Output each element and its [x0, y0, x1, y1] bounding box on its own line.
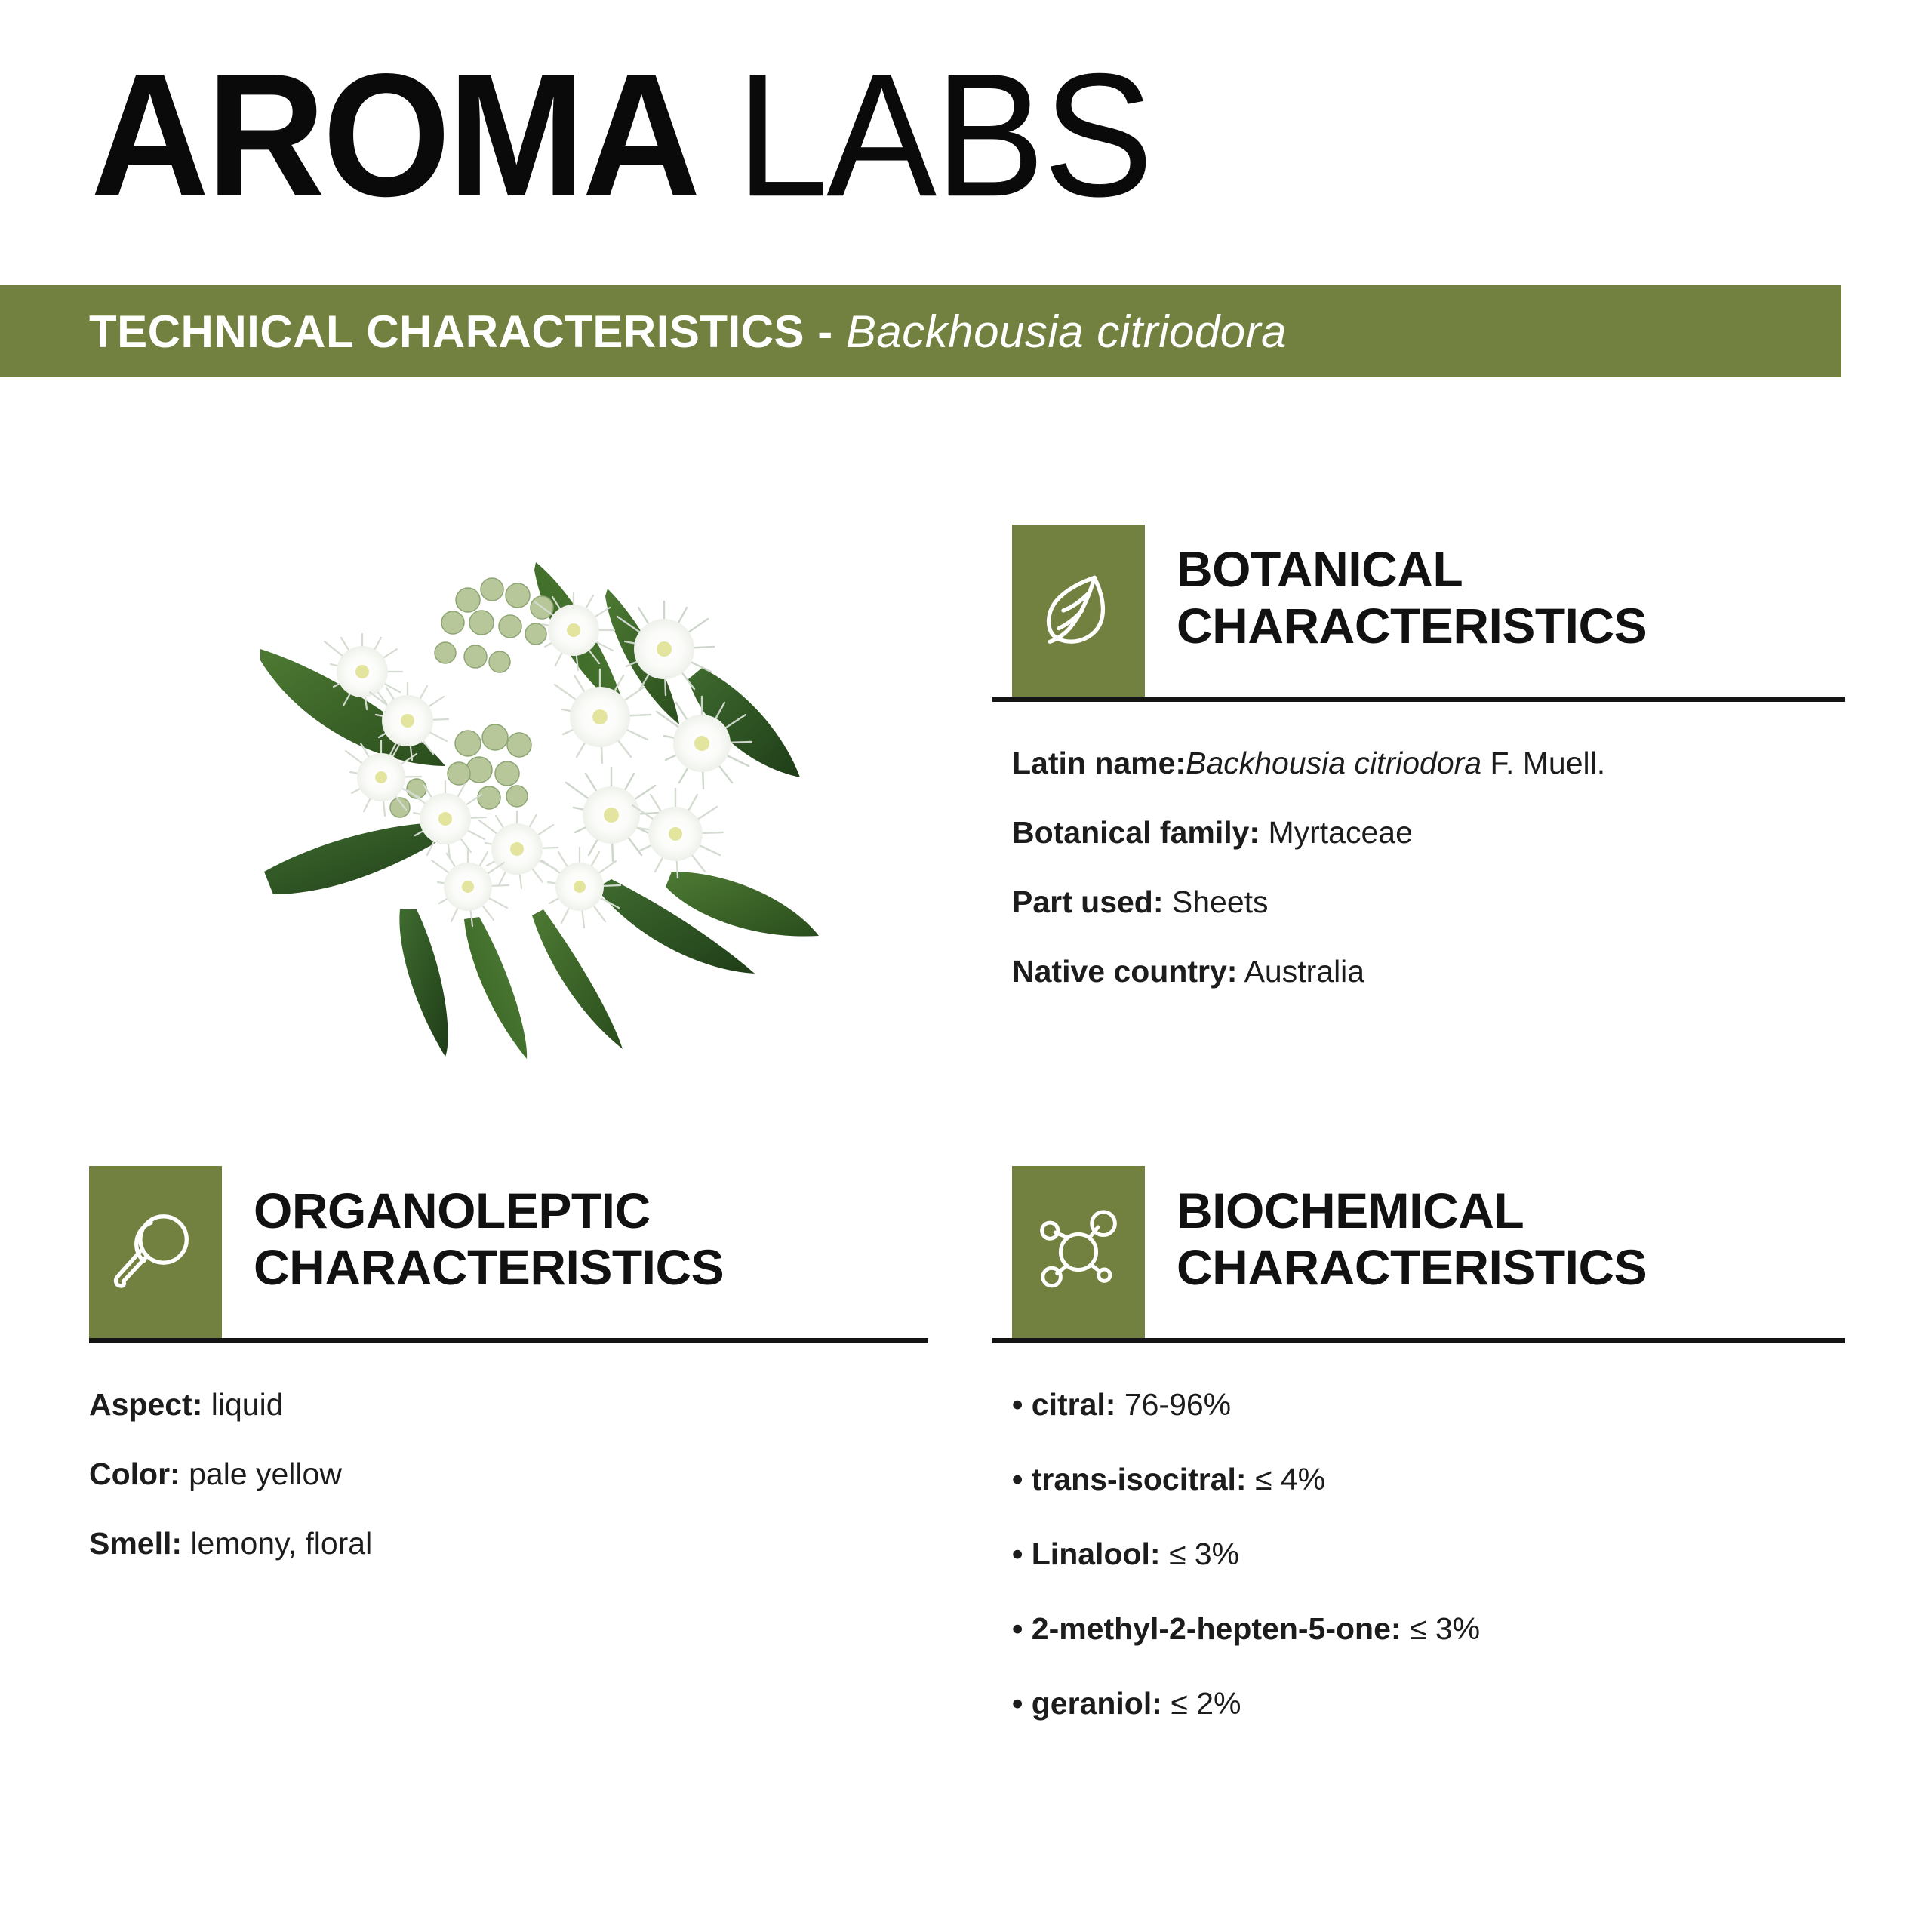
compound-value: ≤ 3%: [1161, 1537, 1240, 1571]
detail-label: Botanical family:: [1012, 815, 1260, 850]
detail-value: lemony, floral: [182, 1526, 372, 1561]
bullet-marker: •: [1012, 1686, 1023, 1721]
compound-value: 76-96%: [1115, 1387, 1231, 1422]
bullet-row-trans-isocitral: • trans-isocitral: ≤ 4%: [1012, 1459, 1865, 1500]
section-header: ORGANOLEPTIC CHARACTERISTICS: [89, 1166, 928, 1338]
compound-label: Linalool:: [1032, 1537, 1161, 1571]
bullet-marker: •: [1012, 1537, 1023, 1571]
detail-row-botanical-family: Botanical family: Myrtaceae: [1012, 812, 1865, 853]
section-botanical-characteristics: BOTANICAL CHARACTERISTICS Latin name:Bac…: [1012, 525, 1865, 992]
detail-value: pale yellow: [180, 1457, 342, 1491]
detail-label: Part used:: [1012, 884, 1164, 919]
section-biochemical-characteristics: BIOCHEMICAL CHARACTERISTICS • citral: 76…: [1012, 1166, 1865, 1724]
plant-photo: [219, 517, 823, 1060]
compound-value: ≤ 4%: [1247, 1462, 1326, 1497]
magnifier-icon-box: [89, 1166, 222, 1338]
leaf-icon-box: [1012, 525, 1145, 697]
banner-title: TECHNICAL CHARACTERISTICS - Backhousia c…: [0, 306, 1287, 358]
detail-label: Latin name:: [1012, 746, 1186, 780]
detail-row-latin-name: Latin name:Backhousia citriodora F. Muel…: [1012, 743, 1865, 783]
detail-label: Native country:: [1012, 954, 1237, 989]
section-title: ORGANOLEPTIC CHARACTERISTICS: [222, 1166, 724, 1295]
detail-label: Color:: [89, 1457, 180, 1491]
magnifier-icon: [111, 1207, 200, 1297]
detail-row-smell: Smell: lemony, floral: [89, 1523, 928, 1564]
banner-title-label: TECHNICAL CHARACTERISTICS -: [89, 306, 846, 357]
bullet-row-2-methyl-2-hepten-5-one: • 2-methyl-2-hepten-5-one: ≤ 3%: [1012, 1608, 1865, 1649]
compound-label: citral:: [1032, 1387, 1116, 1422]
bullet-row-citral: • citral: 76-96%: [1012, 1384, 1865, 1425]
detail-row-native-country: Native country: Australia: [1012, 951, 1865, 992]
molecule-icon: [1034, 1207, 1123, 1297]
detail-label: Smell:: [89, 1526, 182, 1561]
section-divider: [992, 697, 1845, 702]
compound-label: trans-isocitral:: [1032, 1462, 1247, 1497]
brand-logo: AROMA LABS: [91, 53, 1179, 219]
compound-value: ≤ 3%: [1401, 1611, 1481, 1646]
page-banner: TECHNICAL CHARACTERISTICS - Backhousia c…: [0, 285, 1841, 377]
bullet-marker: •: [1012, 1387, 1023, 1422]
section-divider: [89, 1338, 928, 1343]
detail-value: F. Muell.: [1481, 746, 1605, 780]
bullet-row-geraniol: • geraniol: ≤ 2%: [1012, 1683, 1865, 1724]
detail-row-part-used: Part used: Sheets: [1012, 881, 1865, 922]
section-header: BIOCHEMICAL CHARACTERISTICS: [1012, 1166, 1865, 1338]
logo-aroma-text: AROMA: [91, 53, 698, 219]
section-body: Latin name:Backhousia citriodora F. Muel…: [1012, 702, 1865, 992]
section-header: BOTANICAL CHARACTERISTICS: [1012, 525, 1865, 697]
detail-label: Aspect:: [89, 1387, 202, 1422]
bullet-row-linalool: • Linalool: ≤ 3%: [1012, 1534, 1865, 1574]
detail-value: Australia: [1237, 954, 1364, 989]
detail-value: Sheets: [1164, 884, 1269, 919]
leaf-icon: [1034, 566, 1123, 655]
compound-value: ≤ 2%: [1162, 1686, 1241, 1721]
bullet-marker: •: [1012, 1611, 1023, 1646]
molecule-icon-box: [1012, 1166, 1145, 1338]
compound-label: 2-methyl-2-hepten-5-one:: [1032, 1611, 1401, 1646]
detail-value: liquid: [202, 1387, 283, 1422]
logo-labs-text: LABS: [737, 53, 1152, 219]
detail-value-italic: Backhousia citriodora: [1186, 746, 1481, 780]
section-body: Aspect: liquid Color: pale yellow Smell:…: [89, 1343, 928, 1564]
section-divider: [992, 1338, 1845, 1343]
banner-species-name: Backhousia citriodora: [846, 306, 1287, 357]
section-body: • citral: 76-96% • trans-isocitral: ≤ 4%…: [1012, 1343, 1865, 1724]
section-organoleptic-characteristics: ORGANOLEPTIC CHARACTERISTICS Aspect: liq…: [89, 1166, 928, 1564]
section-title: BIOCHEMICAL CHARACTERISTICS: [1145, 1166, 1647, 1295]
compound-label: geraniol:: [1032, 1686, 1162, 1721]
detail-row-color: Color: pale yellow: [89, 1454, 928, 1494]
section-title: BOTANICAL CHARACTERISTICS: [1145, 525, 1647, 654]
bullet-marker: •: [1012, 1462, 1023, 1497]
detail-row-aspect: Aspect: liquid: [89, 1384, 928, 1425]
detail-value: Myrtaceae: [1260, 815, 1413, 850]
